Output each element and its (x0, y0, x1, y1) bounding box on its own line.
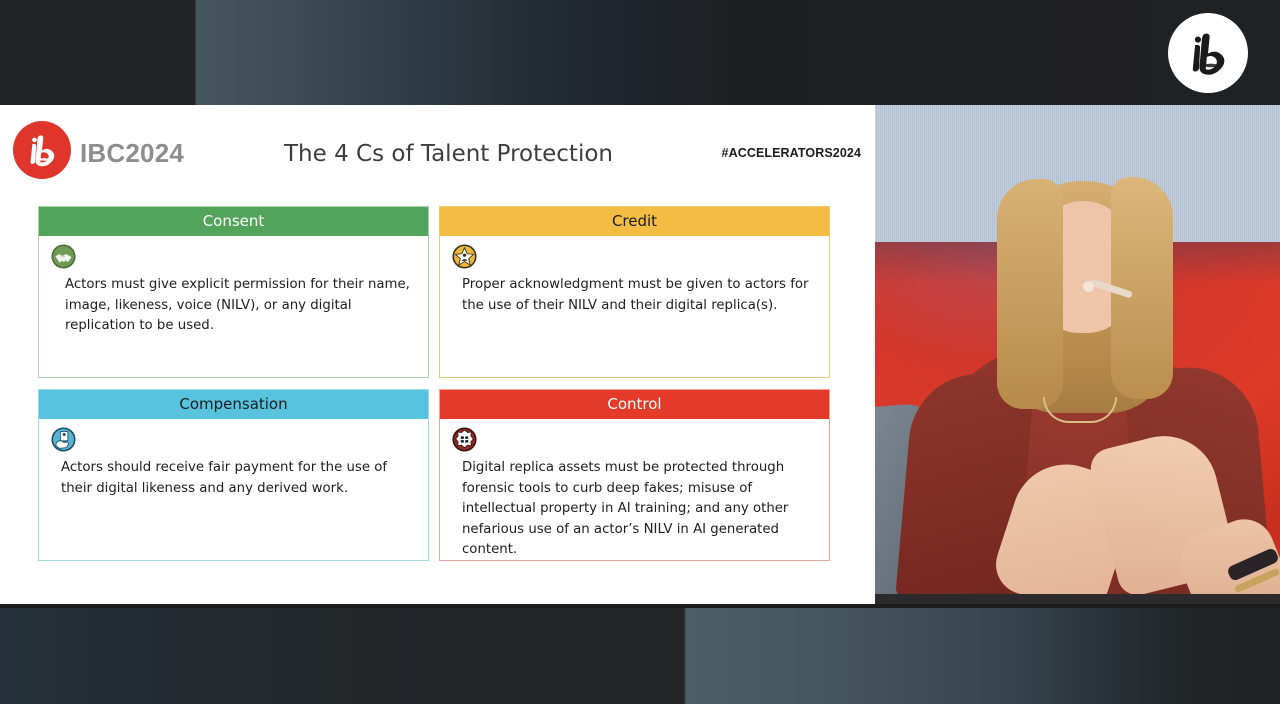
card-credit: Credit Proper acknowledgment must be giv… (439, 206, 830, 378)
webinar-player: IBC2024 The 4 Cs of Talent Protection #A… (0, 0, 1280, 704)
card-consent-text: Actors must give explicit permission for… (51, 275, 416, 337)
presentation-slide: IBC2024 The 4 Cs of Talent Protection #A… (0, 105, 875, 604)
hand-with-money-icon (51, 427, 76, 452)
card-compensation-header: Compensation (39, 390, 428, 419)
card-consent-header: Consent (39, 207, 428, 236)
star-badge-icon (452, 244, 477, 269)
card-compensation-text: Actors should receive fair payment for t… (51, 458, 416, 499)
top-letterbox-bar (0, 0, 1280, 105)
headset-microphone-tip (1083, 281, 1094, 292)
card-consent-body: Actors must give explicit permission for… (39, 236, 428, 377)
card-credit-header: Credit (440, 207, 829, 236)
video-bottom-edge (875, 594, 1280, 604)
card-compensation-body: Actors should receive fair payment for t… (39, 419, 428, 560)
card-credit-body: Proper acknowledgment must be given to a… (440, 236, 829, 377)
card-control-text: Digital replica assets must be protected… (452, 458, 817, 561)
handshake-icon (51, 244, 76, 269)
card-control-header: Control (440, 390, 829, 419)
event-hashtag: #ACCELERATORS2024 (722, 146, 861, 160)
card-control-body: Digital replica assets must be protected… (440, 419, 829, 561)
card-compensation: Compensation Actors should receive fair … (38, 389, 429, 561)
card-consent: Consent Actors must give explicit permis… (38, 206, 429, 378)
slide-header: IBC2024 The 4 Cs of Talent Protection #A… (0, 105, 875, 189)
card-credit-text: Proper acknowledgment must be given to a… (452, 275, 817, 316)
card-control: Control Digital replica assets must be p… (439, 389, 830, 561)
ibc-logo-icon (1168, 13, 1248, 93)
bottom-letterbox-bar (0, 608, 1280, 704)
presenter-video-feed[interactable] (875, 105, 1280, 604)
four-cs-card-grid: Consent Actors must give explicit permis… (38, 206, 830, 561)
control-shield-icon (452, 427, 477, 452)
presenter-hair-front-left (997, 179, 1063, 409)
